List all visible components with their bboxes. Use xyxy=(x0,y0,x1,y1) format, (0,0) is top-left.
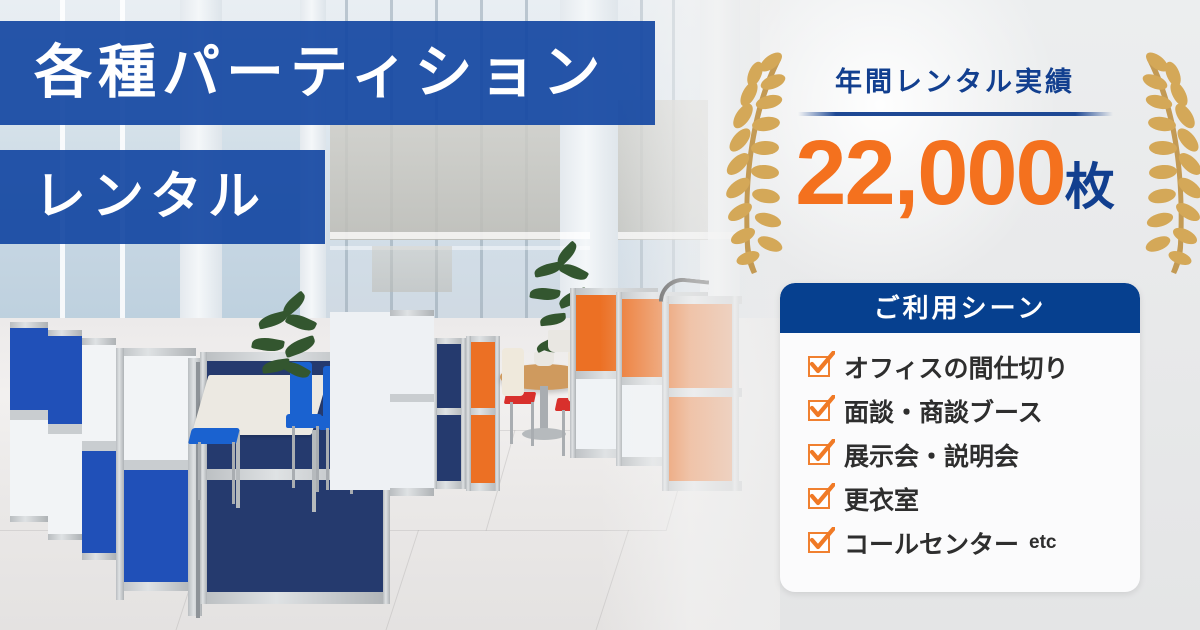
partition-white-back2 xyxy=(330,312,390,490)
list-item-label: コールセンター xyxy=(844,525,1019,561)
usage-scene-heading: ご利用シーン xyxy=(780,283,1140,333)
list-item-label: オフィスの間仕切り xyxy=(844,349,1069,385)
photo-exterior-concrete xyxy=(330,120,560,240)
partition-orange-small xyxy=(466,336,500,498)
checkbox-checked-icon xyxy=(808,355,834,379)
title-band-primary: 各種パーティション xyxy=(0,21,655,125)
photo-cream-chair xyxy=(502,348,524,396)
checkbox-checked-icon xyxy=(808,399,834,423)
usage-scene-card: ご利用シーン オフィスの間仕切り 面談・商談ブース xyxy=(780,283,1140,592)
checkbox-checked-icon xyxy=(808,487,834,511)
list-item: コールセンター etc xyxy=(808,521,1140,565)
title-band-secondary: レンタル xyxy=(0,150,325,244)
partition-navy-front-left xyxy=(58,360,198,610)
list-item: 更衣室 xyxy=(808,477,1140,521)
achievement-value-row: 22,000枚 xyxy=(735,121,1175,226)
partition-navy-far xyxy=(10,322,48,522)
list-item: 面談・商談ブース xyxy=(808,389,1140,433)
title-line-2: レンタル xyxy=(0,150,325,244)
usage-scene-list: オフィスの間仕切り 面談・商談ブース 展示会・説明会 xyxy=(780,333,1140,565)
annual-rental-achievement: 年間レンタル実績 22,000枚 xyxy=(735,28,1175,273)
list-item-label: 展示会・説明会 xyxy=(844,437,1019,473)
list-item-label: 更衣室 xyxy=(844,481,919,517)
title-line-1: 各種パーティション xyxy=(0,21,655,125)
partition-navy-small xyxy=(432,338,466,496)
photo-stairs xyxy=(372,246,452,292)
list-item-label: 面談・商談ブース xyxy=(844,393,1043,429)
list-item: 展示会・説明会 xyxy=(808,433,1140,477)
promo-banner: 各種パーティション レンタル xyxy=(0,0,1200,630)
achievement-divider xyxy=(798,112,1113,116)
list-item: オフィスの間仕切り xyxy=(808,345,1140,389)
photo-floor-tile xyxy=(382,530,629,630)
checkbox-checked-icon xyxy=(808,531,834,555)
partition-white-back xyxy=(390,310,434,496)
achievement-label: 年間レンタル実績 xyxy=(735,60,1175,99)
list-item-suffix: etc xyxy=(1029,532,1056,554)
checkbox-checked-icon xyxy=(808,443,834,467)
photo-railing xyxy=(330,232,590,239)
achievement-unit: 枚 xyxy=(1065,159,1115,215)
photo-table-base xyxy=(522,428,566,440)
photo-plant xyxy=(250,300,320,400)
achievement-number: 22,000 xyxy=(795,122,1064,224)
